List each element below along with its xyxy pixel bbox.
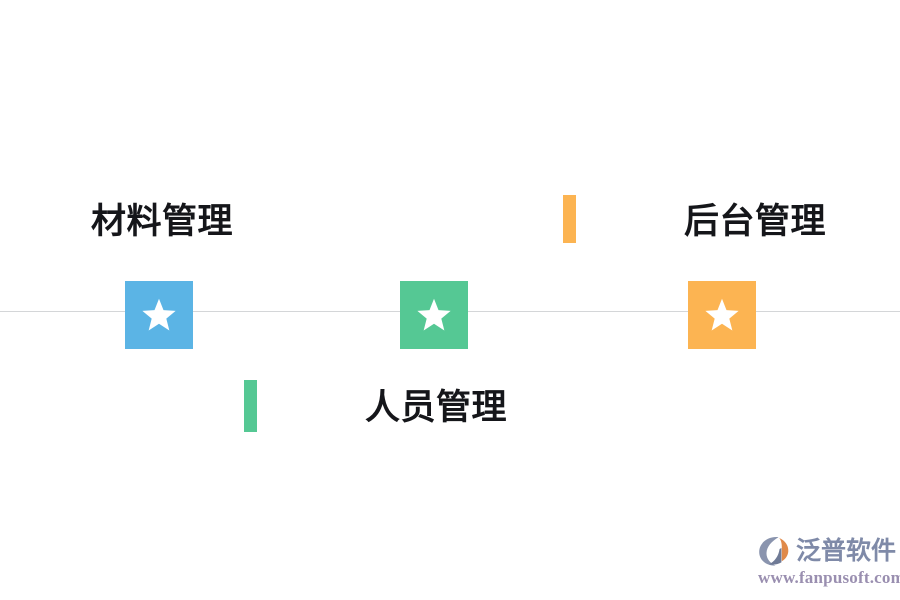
milestone-node-backend-management[interactable] (688, 281, 756, 349)
star-icon (416, 297, 452, 333)
swirl-circle-logo-icon (756, 534, 792, 568)
star-icon (704, 297, 740, 333)
tick-green-lower (244, 380, 257, 432)
milestone-node-material-management[interactable] (125, 281, 193, 349)
stage-label-backend-management: 后台管理 (684, 200, 826, 244)
tick-orange-upper (563, 195, 576, 243)
milestone-node-personnel-management[interactable] (400, 281, 468, 349)
diagram-canvas: 材料管理人员管理后台管理 泛普软件 www.fanpusoft.com (0, 0, 900, 600)
stage-label-material-management: 材料管理 (91, 200, 233, 244)
watermark-brand-row: 泛普软件 (756, 534, 896, 568)
fanpusoft-watermark: 泛普软件 www.fanpusoft.com (756, 528, 888, 590)
watermark-url: www.fanpusoft.com (758, 568, 900, 588)
stage-label-personnel-management: 人员管理 (365, 386, 507, 430)
star-icon (141, 297, 177, 333)
watermark-brand-name: 泛普软件 (796, 536, 896, 566)
